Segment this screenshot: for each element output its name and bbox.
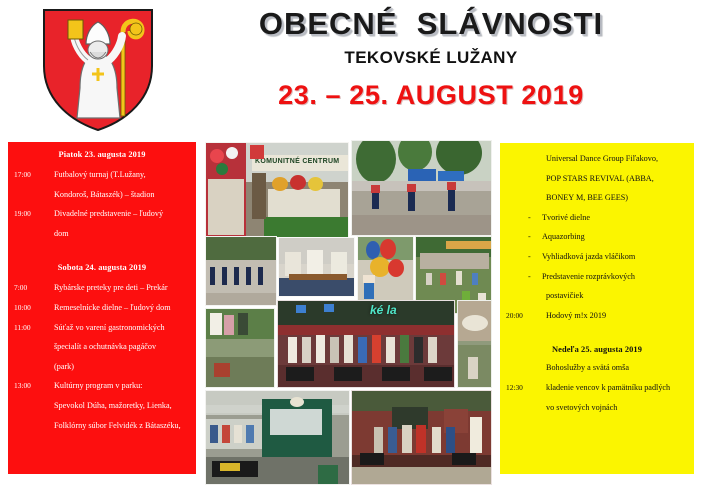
page-title: OBECNÉ SLÁVNOSTI: [196, 8, 666, 39]
program-row: 12:30 kladenie vencov k pamätníku padlýc…: [506, 378, 688, 398]
section-spacer: [14, 243, 190, 261]
row-time: 7:00: [14, 278, 54, 298]
continuation-line: BONEY M, BEE GEES): [546, 188, 688, 208]
coat-of-arms: [36, 6, 160, 134]
bullet-dash: -: [528, 247, 542, 267]
row-text: Hodový m!x 2019: [546, 306, 688, 326]
row-text: kladenie vencov k pamätníku padlých: [546, 378, 688, 398]
program-row: 13:00 Kultúrny program v parku:: [14, 376, 190, 396]
banner-caption: KOMUNITNÉ CENTRUM: [255, 158, 339, 165]
photo-train-ride: [205, 390, 350, 485]
row-text-cont: dom: [54, 224, 190, 244]
bullet-text-cont: postavičiek: [546, 286, 688, 306]
row-text: Súťaž vo varení gastronomických: [54, 318, 190, 338]
row-time: 20:00: [506, 306, 546, 326]
program-row: 7:00 Rybárske preteky pre deti – Prekár: [14, 278, 190, 298]
poster-header: OBECNÉ SLÁVNOSTI TEKOVSKÉ LUŽANY 23. – 2…: [196, 8, 666, 111]
poster-root: OBECNÉ SLÁVNOSTI TEKOVSKÉ LUŽANY 23. – 2…: [0, 0, 702, 489]
row-text-cont: vo svetových vojnách: [546, 398, 688, 418]
row-text: Kultúrny program v parku:: [54, 376, 190, 396]
stage-sign-caption: ké la: [370, 303, 397, 317]
row-time: 10:00: [14, 298, 54, 318]
program-panel-left: Piatok 23. augusta 2019 17:00 Futbalový …: [8, 142, 196, 474]
row-text: Futbalový turnaj (T.Lužany,: [54, 165, 190, 185]
photo-folk-dancers: [351, 390, 492, 485]
row-time: 11:00: [14, 318, 54, 338]
sunday-pre-line: Bohoslužby a svätá omša: [546, 358, 688, 378]
sunday-heading: Nedeľa 25. augusta 2019: [506, 345, 688, 354]
photo-market-stands: KOMUNITNÉ CENTRUM: [205, 142, 349, 238]
program-row: 20:00 Hodový m!x 2019: [506, 306, 688, 326]
bullet-text: Tvorivé dielne: [542, 208, 688, 228]
row-time: 13:00: [14, 376, 54, 396]
bullet-dash: -: [528, 208, 542, 228]
row-text-cont: špecialít a ochutnávka pagáčov: [54, 337, 190, 357]
program-row: 17:00 Futbalový turnaj (T.Lužany,: [14, 165, 190, 185]
photo-chef-guests: [205, 308, 275, 388]
photo-majorettes-line: [205, 236, 277, 306]
section-spacer: [506, 325, 688, 343]
bullet-item: - Vyhliadková jazda vláčikom: [528, 247, 688, 267]
row-text-cont2: (park): [54, 357, 190, 377]
page-subtitle: TEKOVSKÉ LUŽANY: [196, 48, 666, 68]
program-panel-right: Universal Dance Group Fiľakovo, POP STAR…: [500, 143, 694, 474]
bullet-text: Predstavenie rozprávkových: [542, 267, 688, 287]
photo-cooking-pot: [457, 300, 492, 388]
row-time: 19:00: [14, 204, 54, 224]
bullet-item: - Aquazorbing: [528, 227, 688, 247]
row-text-cont2: Folklórny súbor Felvidék z Bátaszéku,: [54, 416, 190, 436]
program-row: 10:00 Remeselnícke dielne – ľudový dom: [14, 298, 190, 318]
bullet-dash: -: [528, 227, 542, 247]
crest-icon: [36, 6, 160, 134]
row-text: Divadelné predstavenie – ľudový: [54, 204, 190, 224]
photo-stage-group: ké la: [277, 300, 455, 388]
program-row: 11:00 Súťaž vo varení gastronomických: [14, 318, 190, 338]
continuation-line: Universal Dance Group Fiľakovo,: [546, 149, 688, 169]
bullet-item: - Predstavenie rozprávkových: [528, 267, 688, 287]
photo-cooking-contest: [278, 237, 355, 297]
photo-collage: KOMUNITNÉ CENTRUM: [205, 140, 492, 485]
bullet-dash: -: [528, 267, 542, 287]
continuation-line: POP STARS REVIVAL (ABBA,: [546, 169, 688, 189]
friday-heading: Piatok 23. augusta 2019: [14, 150, 190, 159]
row-time: 12:30: [506, 378, 546, 398]
program-row: 19:00 Divadelné predstavenie – ľudový: [14, 204, 190, 224]
event-date: 23. – 25. AUGUST 2019: [196, 80, 666, 111]
row-time: 17:00: [14, 165, 54, 185]
row-text-cont: Spevokol Dúha, mažoretky, Lienka,: [54, 396, 190, 416]
row-text-cont: Kondoroš, Bátaszék) – štadion: [54, 185, 190, 205]
saturday-heading: Sobota 24. augusta 2019: [14, 263, 190, 272]
row-text: Remeselnícke dielne – ľudový dom: [54, 298, 190, 318]
photo-majorettes-parade: [351, 140, 492, 236]
row-text: Rybárske preteky pre deti – Prekár: [54, 278, 190, 298]
bullet-text: Aquazorbing: [542, 227, 688, 247]
bullet-item: - Tvorivé dielne: [528, 208, 688, 228]
bullet-text: Vyhliadková jazda vláčikom: [542, 247, 688, 267]
